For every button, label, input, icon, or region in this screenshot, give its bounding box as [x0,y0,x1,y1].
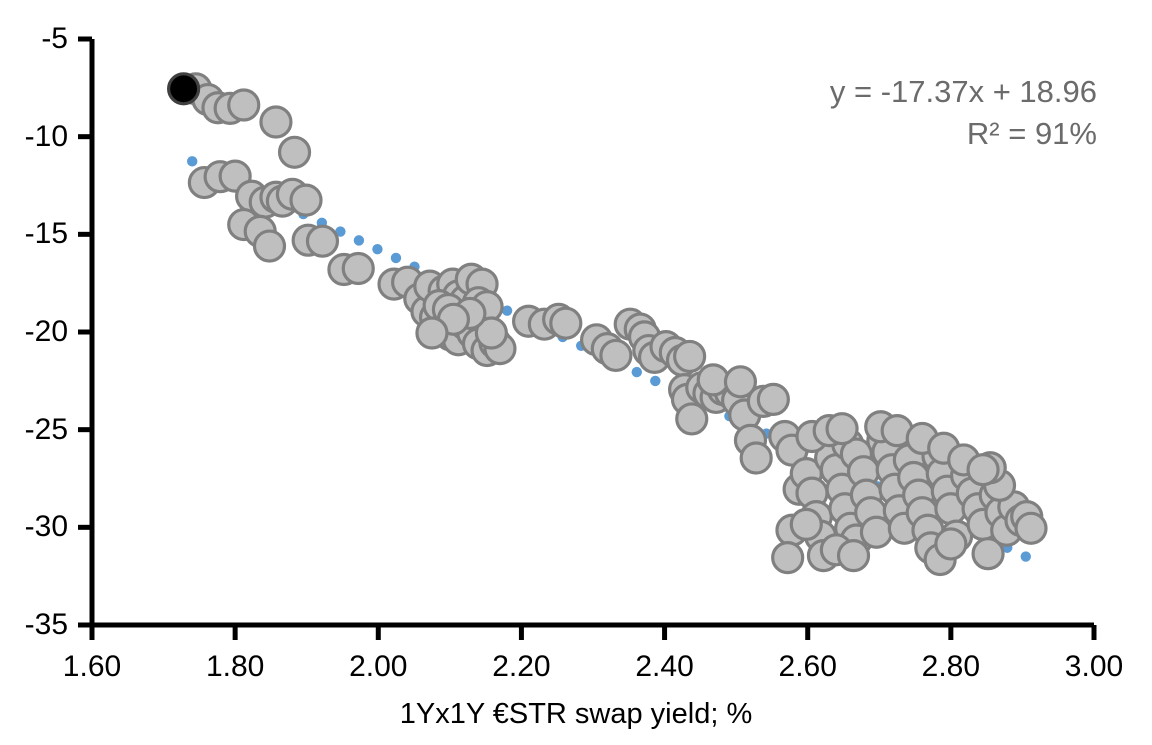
trendline-dot [632,367,642,377]
trendline-dot [391,253,401,263]
x-axis-tick-label: 2.40 [635,652,693,682]
scatter-point [229,90,259,120]
scatter-point [725,367,755,397]
latest-observation-marker [169,74,199,104]
trendline-dot [372,244,382,254]
scatter-point [758,384,788,414]
x-axis-tick-label: 3.00 [1065,652,1123,682]
scatter-point [261,107,291,137]
x-axis-tick-label: 2.00 [349,652,407,682]
scatter-point [698,365,728,395]
scatter-point [280,137,310,167]
y-axis-tick-label: -20 [0,317,68,347]
x-axis-tick-label: 1.80 [206,652,264,682]
y-axis-tick-label: -5 [0,24,68,54]
scatter-point [827,414,857,444]
scatter-point [291,185,321,215]
x-axis-tick-label: 2.80 [922,652,980,682]
x-axis-tick-label: 2.20 [492,652,550,682]
y-axis-tick-label: -35 [0,610,68,640]
trendline-equation-label: y = -17.37x + 18.96 [830,76,1097,107]
scatter-point [675,341,705,371]
scatter-point [839,541,869,571]
scatter-point [307,226,337,256]
y-axis-tick-label: -25 [0,415,68,445]
r-squared-label: R² = 91% [967,118,1097,149]
trendline-dot [1021,551,1031,561]
scatter-point [1016,513,1046,543]
x-axis-title: 1Yx1Y €STR swap yield; % [0,700,1152,729]
scatter-point [551,308,581,338]
y-axis-tick-label: -15 [0,219,68,249]
scatter-points [181,74,1046,575]
trendline-dot [650,376,660,386]
scatter-point [601,340,631,370]
x-axis-tick-label: 1.60 [63,652,121,682]
scatter-point [343,254,373,284]
trendline-dot [187,156,197,166]
trendline-dot [354,235,364,245]
x-axis-tick-label: 2.60 [779,652,837,682]
y-axis-tick-label: -10 [0,122,68,152]
scatter-plot-canvas [0,0,1152,745]
scatter-point [254,231,284,261]
scatter-point [417,318,447,348]
scatter-point [936,529,966,559]
highlighted-point [169,74,199,104]
scatter-point [741,443,771,473]
scatter-point [791,509,821,539]
scatter-point [968,455,998,485]
scatter-point [773,543,803,573]
chart-container: -5-10-15-20-25-30-35 1.601.802.002.202.4… [0,0,1152,745]
y-axis-tick-label: -30 [0,512,68,542]
